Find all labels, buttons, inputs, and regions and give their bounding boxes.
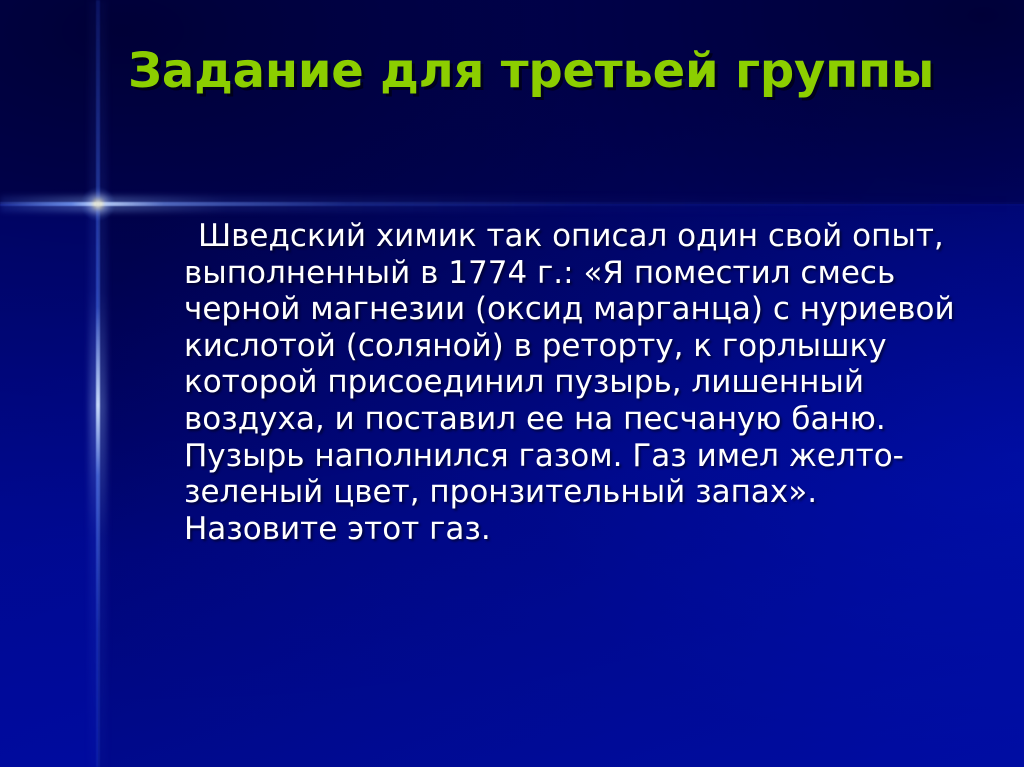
- slide-title: Задание для третьей группы: [128, 40, 958, 102]
- slide-body-text: Шведский химик так описал один свой опыт…: [184, 218, 974, 547]
- horizontal-accent-rule: [0, 202, 1024, 206]
- background-left-band: [0, 204, 98, 767]
- presentation-slide: Задание для третьей группы Шведский хими…: [0, 0, 1024, 767]
- vertical-accent-rule: [96, 0, 100, 767]
- four-point-star-icon: [82, 188, 114, 220]
